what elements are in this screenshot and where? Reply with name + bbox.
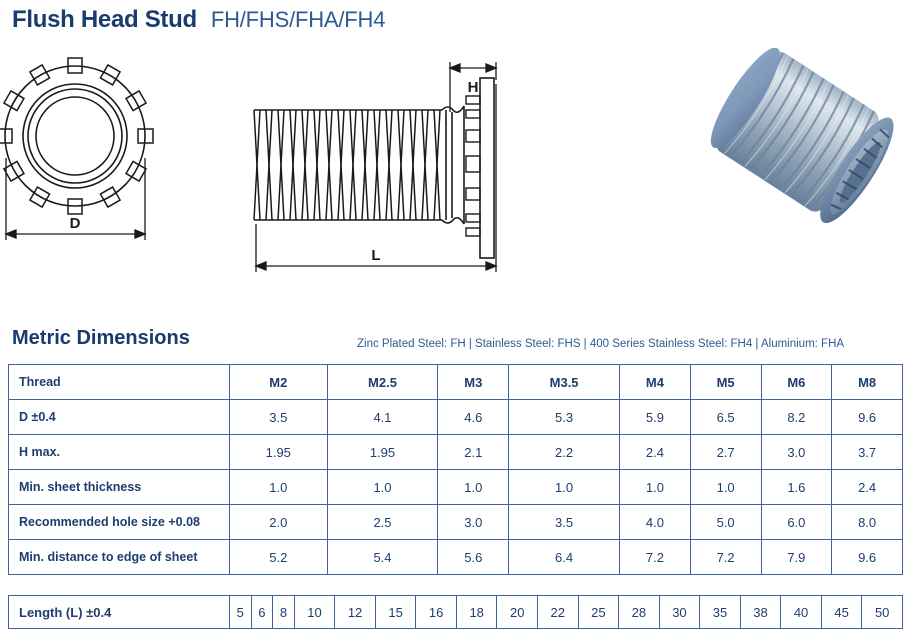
side-view-drawing: H L <box>240 48 520 288</box>
length-cell: 22 <box>538 596 579 629</box>
product-photo <box>640 48 910 283</box>
table-cell: 2.5 <box>327 505 438 540</box>
table-row: D ±0.43.54.14.65.35.96.58.29.6 <box>9 400 903 435</box>
knurl-teeth-side <box>466 96 480 236</box>
length-cell: 40 <box>781 596 822 629</box>
page-header: Flush Head Stud FH/FHS/FHA/FH4 <box>12 6 385 34</box>
length-cell: 45 <box>821 596 862 629</box>
length-cell: 50 <box>862 596 903 629</box>
table-cell: 9.6 <box>832 400 903 435</box>
length-cell: 12 <box>335 596 376 629</box>
column-header-m2-5: M2.5 <box>327 365 438 400</box>
column-header-m6: M6 <box>761 365 832 400</box>
table-cell: 7.2 <box>620 540 691 575</box>
column-header-m3: M3 <box>438 365 509 400</box>
table-cell: 3.0 <box>438 505 509 540</box>
figures-row: D <box>0 48 910 288</box>
row-label: Recommended hole size +0.08 <box>9 505 230 540</box>
table-cell: 3.0 <box>761 435 832 470</box>
thread-profile <box>254 110 442 220</box>
length-cell: 10 <box>294 596 335 629</box>
table-cell: 1.0 <box>327 470 438 505</box>
table-cell: 5.0 <box>690 505 761 540</box>
side-view-h-label: H <box>468 79 479 96</box>
table-cell: 1.0 <box>230 470 328 505</box>
table-cell: 5.3 <box>509 400 620 435</box>
length-cell: 8 <box>273 596 295 629</box>
row-label: Min. sheet thickness <box>9 470 230 505</box>
table-cell: 4.0 <box>620 505 691 540</box>
table-cell: 6.4 <box>509 540 620 575</box>
table-cell: 2.4 <box>620 435 691 470</box>
length-cell: 16 <box>416 596 457 629</box>
table-cell: 7.2 <box>690 540 761 575</box>
length-cell: 30 <box>659 596 700 629</box>
end-view-geometry <box>5 66 145 206</box>
section-heading: Metric Dimensions <box>12 327 190 350</box>
length-cell: 35 <box>700 596 741 629</box>
column-header-thread: Thread <box>9 365 230 400</box>
table-cell: 2.0 <box>230 505 328 540</box>
table-cell: 2.7 <box>690 435 761 470</box>
length-row: Length (L) ±0.45681012151618202225283035… <box>9 596 903 629</box>
table-cell: 2.4 <box>832 470 903 505</box>
row-label: H max. <box>9 435 230 470</box>
table-cell: 5.2 <box>230 540 328 575</box>
table-row: H max.1.951.952.12.22.42.73.03.7 <box>9 435 903 470</box>
table-row: Min. distance to edge of sheet5.25.45.66… <box>9 540 903 575</box>
length-cell: 18 <box>456 596 497 629</box>
length-cell: 5 <box>230 596 252 629</box>
column-header-m8: M8 <box>832 365 903 400</box>
length-table: Length (L) ±0.45681012151618202225283035… <box>8 595 903 629</box>
length-cell: 38 <box>740 596 781 629</box>
row-label: D ±0.4 <box>9 400 230 435</box>
table-cell: 3.5 <box>230 400 328 435</box>
table-cell: 9.6 <box>832 540 903 575</box>
table-cell: 5.4 <box>327 540 438 575</box>
table-cell: 1.95 <box>327 435 438 470</box>
table-cell: 1.0 <box>620 470 691 505</box>
column-header-m3-5: M3.5 <box>509 365 620 400</box>
length-cell: 28 <box>619 596 660 629</box>
table-cell: 3.7 <box>832 435 903 470</box>
end-view-drawing: D <box>0 48 220 288</box>
table-cell: 2.1 <box>438 435 509 470</box>
table-cell: 2.2 <box>509 435 620 470</box>
head-undercut <box>442 106 464 224</box>
materials-legend: Zinc Plated Steel: FH | Stainless Steel:… <box>357 338 844 350</box>
metric-dimensions-table: ThreadM2M2.5M3M3.5M4M5M6M8D ±0.43.54.14.… <box>8 364 903 575</box>
table-cell: 3.5 <box>509 505 620 540</box>
table-cell: 1.0 <box>438 470 509 505</box>
flange-plate <box>464 78 494 258</box>
table-header-row: ThreadM2M2.5M3M3.5M4M5M6M8 <box>9 365 903 400</box>
stud-body <box>699 48 905 232</box>
table-cell: 6.5 <box>690 400 761 435</box>
length-cell: 20 <box>497 596 538 629</box>
end-view-d-label: D <box>70 215 81 232</box>
table-cell: 1.6 <box>761 470 832 505</box>
column-header-m5: M5 <box>690 365 761 400</box>
page-title: Flush Head Stud <box>12 6 197 34</box>
row-label: Min. distance to edge of sheet <box>9 540 230 575</box>
table-row: Min. sheet thickness1.01.01.01.01.01.01.… <box>9 470 903 505</box>
table-cell: 4.6 <box>438 400 509 435</box>
table-cell: 8.2 <box>761 400 832 435</box>
length-cell: 25 <box>578 596 619 629</box>
side-view-l-label: L <box>371 247 380 264</box>
table-cell: 5.6 <box>438 540 509 575</box>
column-header-m4: M4 <box>620 365 691 400</box>
table-cell: 4.1 <box>327 400 438 435</box>
table-cell: 1.0 <box>509 470 620 505</box>
length-row-label: Length (L) ±0.4 <box>9 596 230 629</box>
table-cell: 5.9 <box>620 400 691 435</box>
table-cell: 8.0 <box>832 505 903 540</box>
table-row: Recommended hole size +0.082.02.53.03.54… <box>9 505 903 540</box>
page-subtitle-part-codes: FH/FHS/FHA/FH4 <box>211 7 385 33</box>
table-cell: 6.0 <box>761 505 832 540</box>
length-cell: 15 <box>375 596 416 629</box>
table-cell: 1.95 <box>230 435 328 470</box>
length-cell: 6 <box>251 596 273 629</box>
table-cell: 7.9 <box>761 540 832 575</box>
table-cell: 1.0 <box>690 470 761 505</box>
column-header-m2: M2 <box>230 365 328 400</box>
